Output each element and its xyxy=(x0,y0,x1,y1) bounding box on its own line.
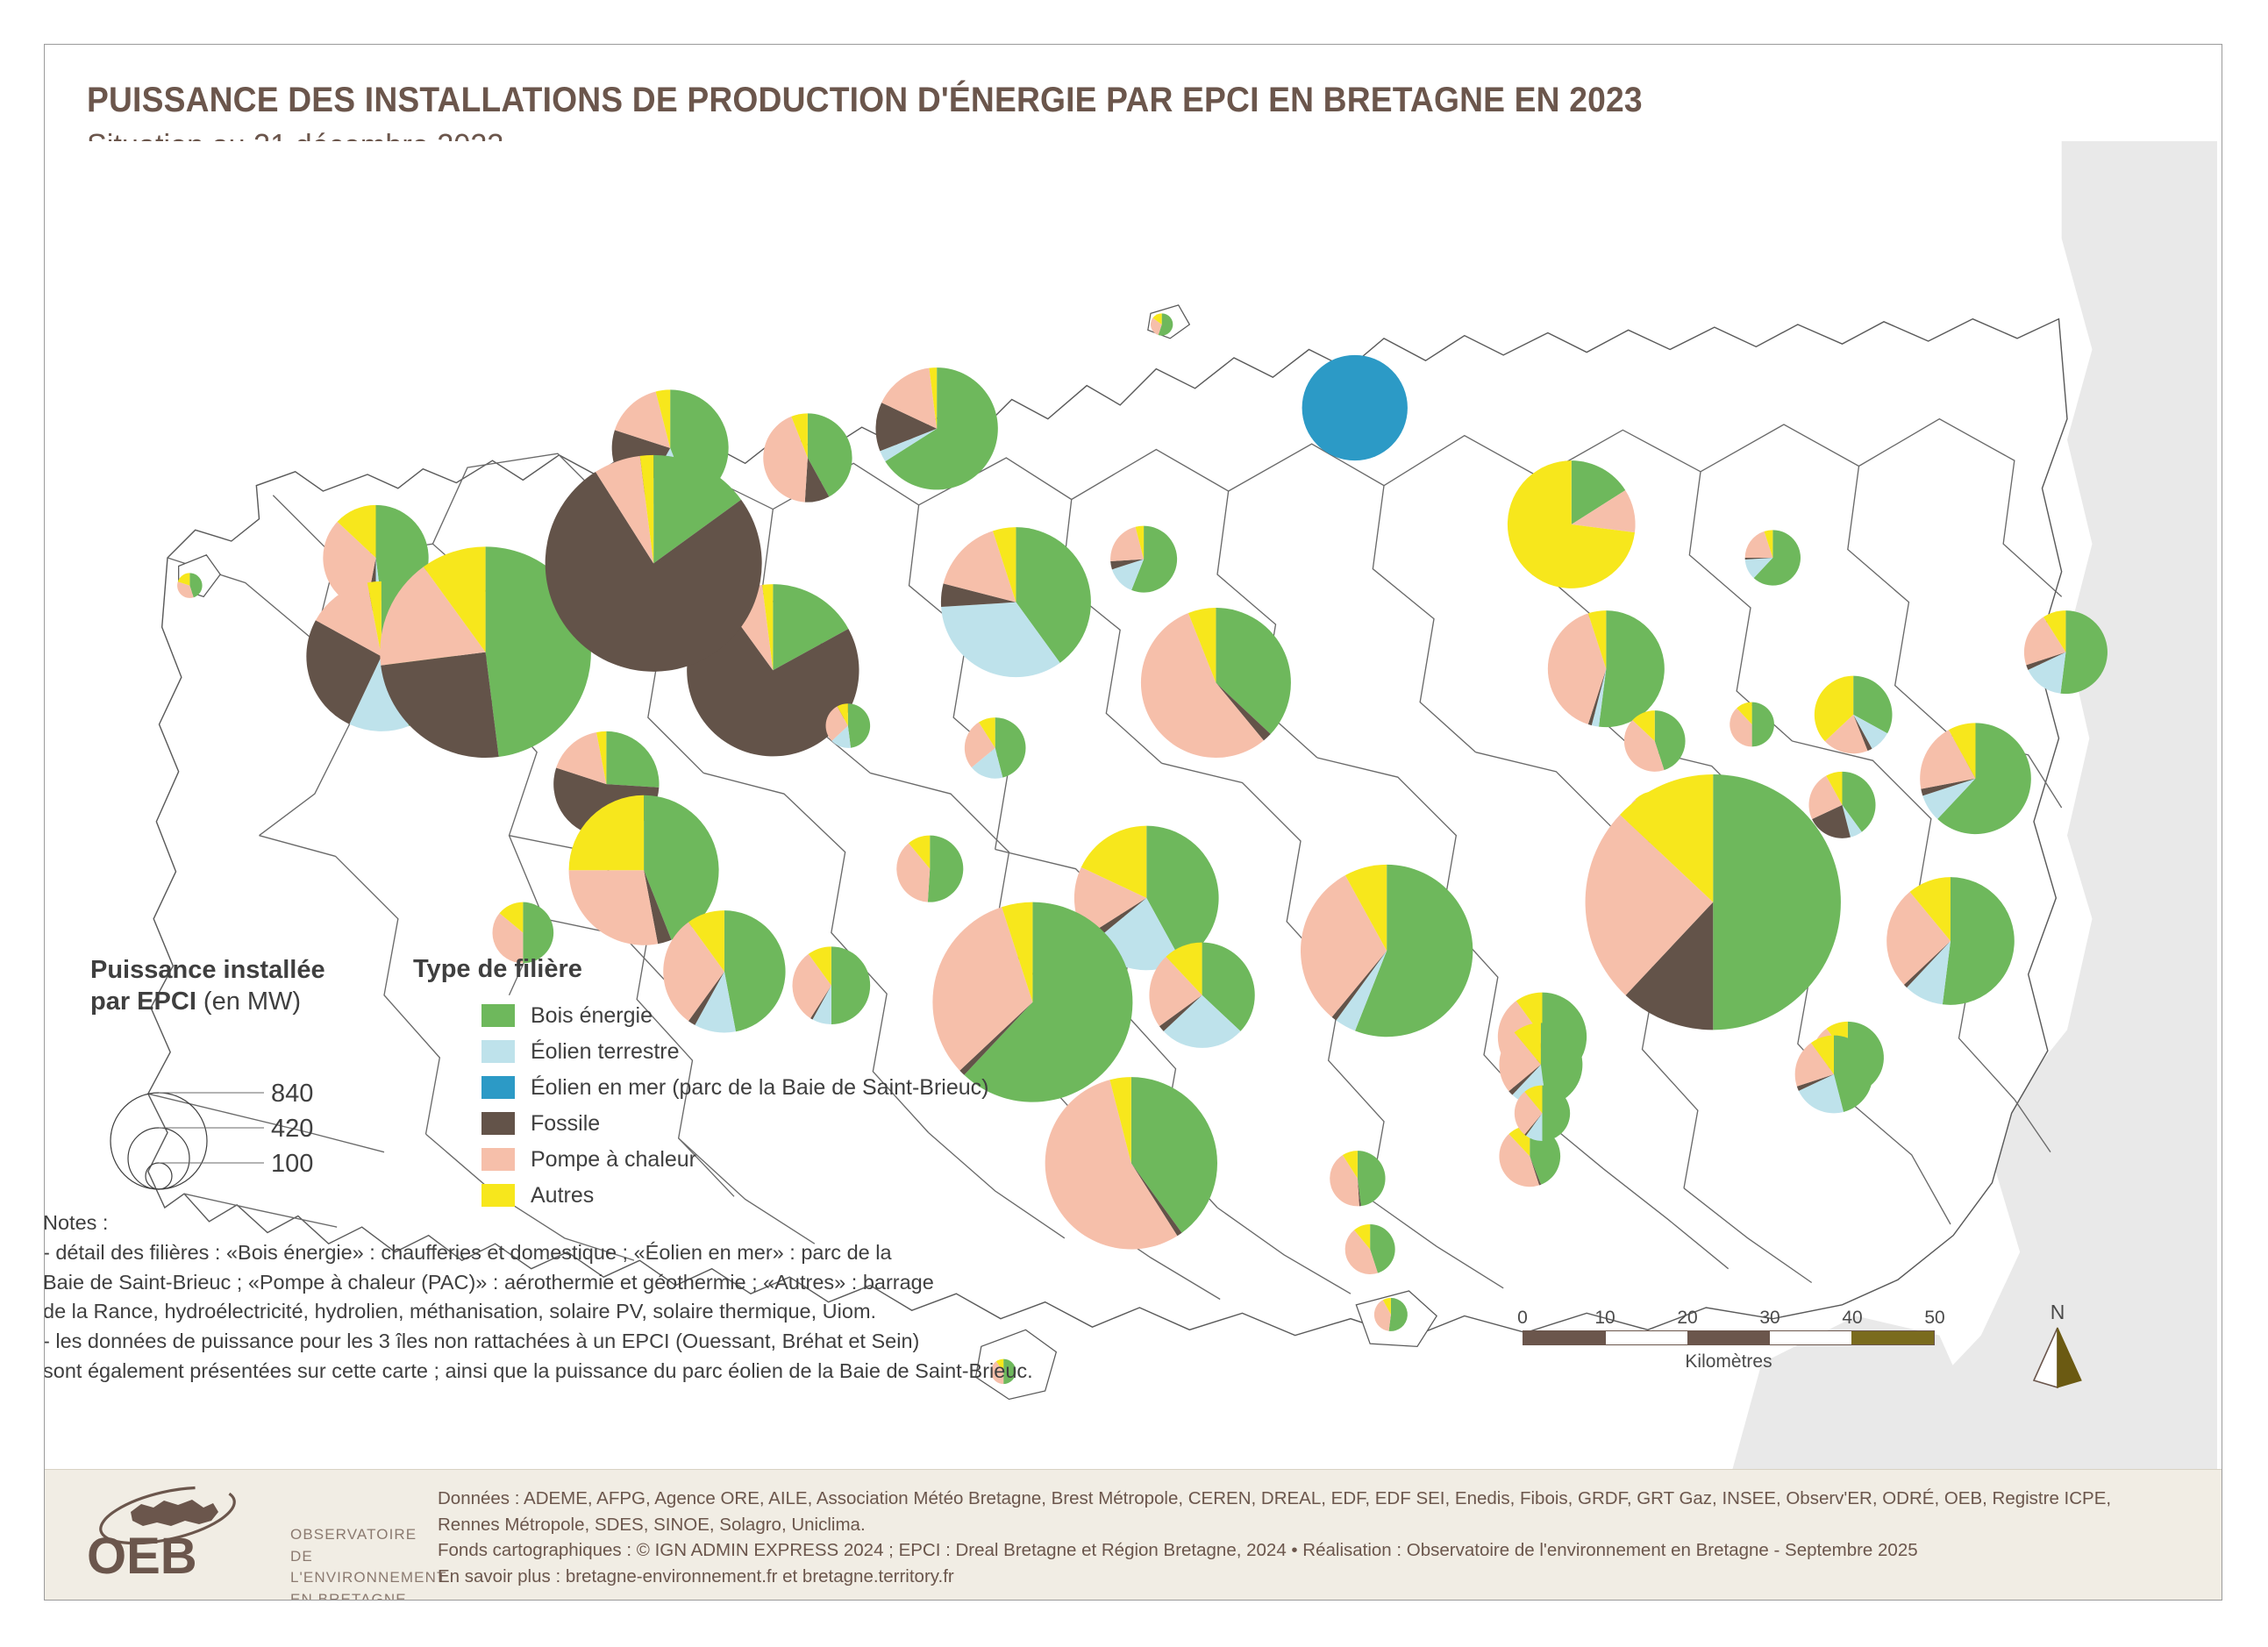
pie-marker[interactable] xyxy=(876,367,998,489)
oeb-logo-line-2: DE L'ENVIRONNEMENT xyxy=(290,1546,446,1589)
pie-marker[interactable] xyxy=(177,573,203,598)
legend-label-autres: Autres xyxy=(531,1183,594,1209)
credits-line-2: Rennes Métropole, SDES, SINOE, Solagro, … xyxy=(438,1512,2111,1538)
pie-marker[interactable] xyxy=(1508,460,1636,588)
pie-marker[interactable] xyxy=(1149,943,1254,1048)
scale-seg-0 xyxy=(1523,1331,1606,1344)
category-legend-rows: Bois énergieÉolien terrestreÉolien en me… xyxy=(481,1003,1080,1208)
scale-seg-1 xyxy=(1606,1331,1688,1344)
pie-marker[interactable] xyxy=(1586,774,1841,1030)
pie-marker[interactable] xyxy=(1886,877,2015,1005)
page-title: PUISSANCE DES INSTALLATIONS DE PRODUCTIO… xyxy=(87,82,1963,118)
notes-block: Notes : - détail des filières : «Bois én… xyxy=(44,1209,1183,1387)
scale-bar-caption: Kilomètres xyxy=(1523,1351,1935,1372)
size-circle-840 xyxy=(111,1093,207,1189)
pie-marker[interactable] xyxy=(1301,865,1473,1037)
legend-item-eolien_mer[interactable]: Éolien en mer (parc de la Baie de Saint-… xyxy=(481,1075,1080,1100)
notes-line-3: de la Rance, hydroélectricité, hydrolien… xyxy=(44,1297,1183,1327)
legend-swatch-eolien_mer xyxy=(481,1076,515,1099)
legend-swatch-eolien_terrestre xyxy=(481,1040,515,1063)
pie-marker[interactable] xyxy=(1141,608,1291,758)
poster-canvas: PUISSANCE DES INSTALLATIONS DE PRODUCTIO… xyxy=(44,44,2222,1601)
legend-swatch-bois xyxy=(481,1004,515,1027)
legend-label-fossile: Fossile xyxy=(531,1111,600,1137)
north-label: N xyxy=(2018,1301,2097,1324)
legend-swatch-pac xyxy=(481,1148,515,1171)
notes-line-2: Baie de Saint-Brieuc ; «Pompe à chaleur … xyxy=(44,1268,1183,1298)
size-legend-heading-unit: (en MW) xyxy=(196,987,301,1016)
oeb-logo-line-1: OBSERVATOIRE xyxy=(290,1524,446,1546)
pie-marker[interactable] xyxy=(1745,530,1801,585)
scale-tick-10: 10 xyxy=(1594,1308,1615,1329)
credits-line-4: En savoir plus : bretagne-environnement.… xyxy=(438,1564,2111,1590)
legend-label-eolien_terrestre: Éolien terrestre xyxy=(531,1039,680,1065)
scale-tick-30: 30 xyxy=(1759,1308,1779,1329)
scale-seg-3 xyxy=(1770,1331,1852,1344)
pie-marker[interactable] xyxy=(1548,610,1665,727)
scale-bar-ticks: 01020304050 xyxy=(1523,1308,1979,1330)
scale-tick-20: 20 xyxy=(1677,1308,1697,1329)
size-label-100: 100 xyxy=(271,1150,313,1178)
pie-marker[interactable] xyxy=(965,717,1026,779)
credits-block: Données : ADEME, AFPG, Agence ORE, AILE,… xyxy=(438,1486,2111,1590)
notes-line-5: sont également présentées sur cette cart… xyxy=(44,1357,1183,1387)
size-circle-100 xyxy=(146,1163,172,1189)
oeb-logo: OEB OBSERVATOIRE DE L'ENVIRONNEMENT EN B… xyxy=(80,1486,422,1582)
pie-marker[interactable] xyxy=(1730,702,1774,747)
pie-marker[interactable] xyxy=(2024,610,2108,694)
legend-item-fossile[interactable]: Fossile xyxy=(481,1111,1080,1136)
legend-item-bois[interactable]: Bois énergie xyxy=(481,1003,1080,1028)
pie-marker[interactable] xyxy=(1815,676,1893,754)
oeb-logo-line-3: EN BRETAGNE xyxy=(290,1589,446,1601)
legend-swatch-fossile xyxy=(481,1112,515,1135)
size-label-840: 840 xyxy=(271,1080,313,1108)
size-legend-heading-line1: Puissance installée xyxy=(90,956,325,984)
notes-line-1: - détail des filières : «Bois énergie» :… xyxy=(44,1238,1183,1268)
scale-bar-graphic xyxy=(1523,1330,1935,1345)
legend-item-autres[interactable]: Autres xyxy=(481,1183,1080,1208)
legend-item-pac[interactable]: Pompe à chaleur xyxy=(481,1147,1080,1172)
pie-marker[interactable] xyxy=(1345,1224,1395,1274)
pie-marker[interactable] xyxy=(1374,1298,1408,1331)
category-legend: Type de filière Bois énergieÉolien terre… xyxy=(413,955,1080,1208)
legend-label-bois: Bois énergie xyxy=(531,1003,653,1029)
footer-band: OEB OBSERVATOIRE DE L'ENVIRONNEMENT EN B… xyxy=(45,1469,2222,1600)
scale-tick-50: 50 xyxy=(1924,1308,1944,1329)
scale-tick-40: 40 xyxy=(1842,1308,1862,1329)
north-arrow-icon xyxy=(2030,1326,2085,1389)
pie-marker[interactable] xyxy=(1302,355,1408,460)
pie-marker[interactable] xyxy=(826,703,871,748)
pie-marker[interactable] xyxy=(546,455,762,672)
scale-tick-0: 0 xyxy=(1517,1308,1528,1329)
size-legend-graphic: 840 420 100 xyxy=(90,1034,371,1192)
size-legend: Puissance installée par EPCI (en MW) 840… xyxy=(90,955,380,1192)
category-legend-heading: Type de filière xyxy=(413,955,1080,984)
north-arrow: N xyxy=(2018,1301,2097,1394)
pie-marker[interactable] xyxy=(1330,1151,1385,1206)
legend-label-pac: Pompe à chaleur xyxy=(531,1147,696,1173)
pie-marker[interactable] xyxy=(1920,723,2031,834)
scale-bar: 01020304050 Kilomètres xyxy=(1523,1308,1979,1372)
size-legend-heading: Puissance installée par EPCI (en MW) xyxy=(90,955,380,1018)
notes-line-4: - les données de puissance pour les 3 îl… xyxy=(44,1327,1183,1357)
pie-slice xyxy=(1302,355,1408,460)
pie-marker[interactable] xyxy=(1515,1086,1570,1141)
scale-seg-4 xyxy=(1851,1331,1934,1344)
oeb-logo-subtitle: OBSERVATOIRE DE L'ENVIRONNEMENT EN BRETA… xyxy=(290,1524,446,1601)
notes-heading: Notes : xyxy=(44,1209,1183,1238)
legend-item-eolien_terrestre[interactable]: Éolien terrestre xyxy=(481,1039,1080,1064)
pie-marker[interactable] xyxy=(896,836,963,902)
scale-seg-2 xyxy=(1687,1331,1770,1344)
credits-line-3: Fonds cartographiques : © IGN ADMIN EXPR… xyxy=(438,1537,2111,1564)
credits-line-1: Données : ADEME, AFPG, Agence ORE, AILE,… xyxy=(438,1486,2111,1512)
size-legend-heading-line2: par EPCI xyxy=(90,987,196,1016)
pie-marker[interactable] xyxy=(941,527,1091,677)
pie-marker[interactable] xyxy=(493,902,554,964)
pie-marker[interactable] xyxy=(1151,313,1173,335)
pie-marker[interactable] xyxy=(763,413,852,502)
pie-marker[interactable] xyxy=(1808,772,1875,838)
oeb-logo-mark: OEB xyxy=(80,1486,282,1582)
pie-marker[interactable] xyxy=(1795,1036,1873,1114)
oeb-logo-acronym: OEB xyxy=(87,1528,197,1582)
size-circle-420 xyxy=(128,1128,189,1189)
pie-marker[interactable] xyxy=(1110,526,1177,593)
size-label-420: 420 xyxy=(271,1115,313,1143)
legend-swatch-autres xyxy=(481,1184,515,1207)
legend-label-eolien_mer: Éolien en mer (parc de la Baie de Saint-… xyxy=(531,1075,989,1101)
pie-marker[interactable] xyxy=(1624,710,1686,772)
